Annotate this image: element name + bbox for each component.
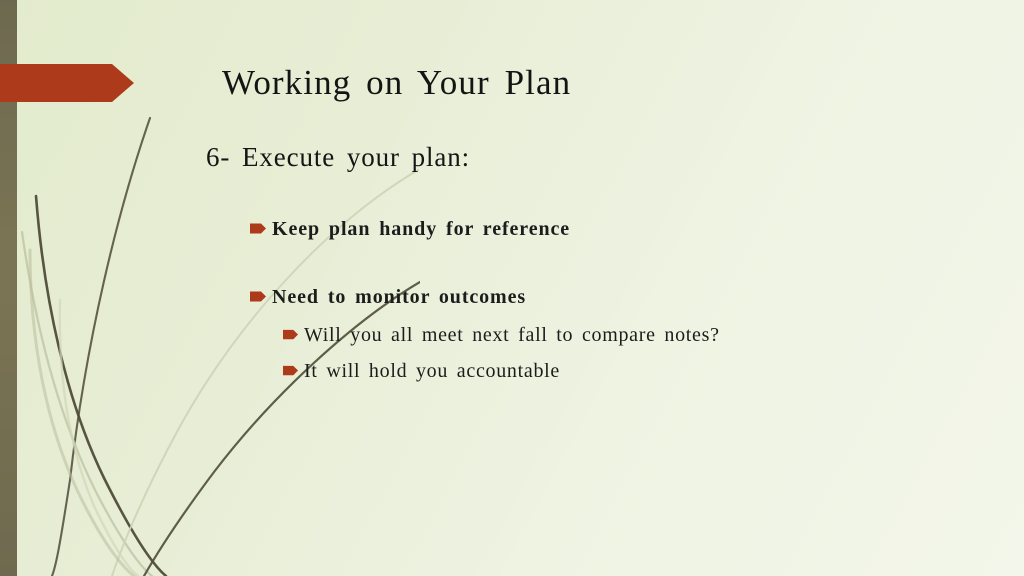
slide-body: 6- Execute your plan: Keep plan handy fo… [0, 140, 1024, 384]
arrow-bullet-icon [283, 364, 298, 377]
list-item-level3: It will hold you accountable [283, 358, 804, 384]
list-item-level3: Will you all meet next fall to compare n… [283, 322, 804, 348]
spacer [0, 174, 1024, 216]
arrow-bullet-icon [250, 290, 266, 303]
spacer [0, 348, 1024, 358]
list-item-label: Will you all meet next fall to compare n… [304, 324, 720, 346]
arrow-bullet-icon [283, 328, 298, 341]
arrow-bullet-icon [250, 222, 266, 235]
presentation-slide: Working on Your Plan 6- Execute your pla… [0, 0, 1024, 576]
list-item-label: It will hold you accountable [304, 360, 560, 382]
list-item-label: Keep plan handy for reference [272, 218, 570, 240]
list-item-level2: Need to monitor outcomes [250, 284, 1024, 310]
arrow-banner-icon [0, 64, 134, 102]
page-title: Working on Your Plan [222, 62, 982, 104]
list-item-level1: 6- Execute your plan: [206, 140, 1024, 174]
spacer [0, 242, 1024, 284]
spacer [0, 310, 1024, 322]
list-item-label: Need to monitor outcomes [272, 286, 526, 308]
list-item-level2: Keep plan handy for reference [250, 216, 1024, 242]
